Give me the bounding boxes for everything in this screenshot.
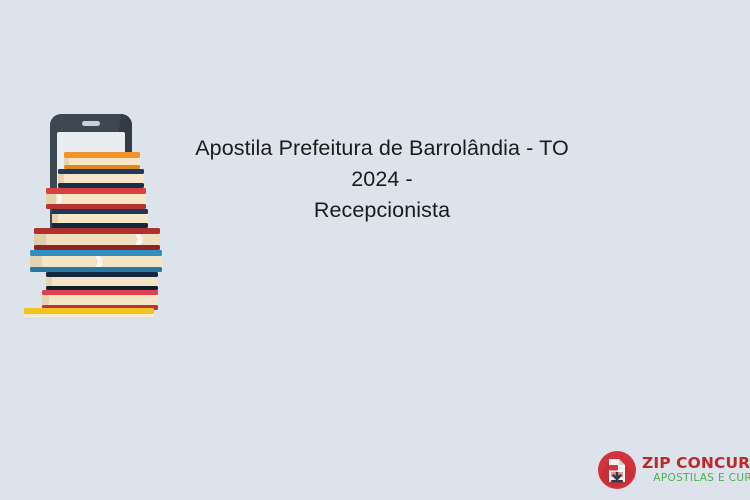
brand-logo[interactable]: ZIP CONCURSOS APOSTILAS E CURSOS xyxy=(596,447,744,493)
stack-of-books-with-smartphone-illustration xyxy=(8,112,176,317)
brand-title: ZIP CONCURSOS xyxy=(642,455,750,472)
book-dark-navy xyxy=(52,209,148,228)
product-title: Apostila Prefeitura de Barrolândia - TO … xyxy=(182,133,582,226)
book-red xyxy=(46,188,146,209)
book-orange-top xyxy=(64,152,140,169)
books-illustration-svg xyxy=(8,112,176,317)
brand-wordmark: ZIP CONCURSOS APOSTILAS E CURSOS xyxy=(642,455,750,485)
book-crimson xyxy=(34,228,160,250)
book-navy xyxy=(58,169,144,188)
pdf-download-circle-icon xyxy=(596,449,638,491)
book-yellow xyxy=(24,308,154,317)
brand-subtitle: APOSTILAS E CURSOS xyxy=(642,472,750,485)
book-pink-red xyxy=(42,290,158,310)
product-title-line-1: Apostila Prefeitura de Barrolândia - TO … xyxy=(182,133,582,195)
book-blue xyxy=(30,250,162,272)
product-title-line-2: Recepcionista xyxy=(182,195,582,226)
promo-banner: Apostila Prefeitura de Barrolândia - TO … xyxy=(0,0,750,500)
book-midnight xyxy=(46,272,158,290)
pdf-download-circle-svg xyxy=(596,449,638,491)
